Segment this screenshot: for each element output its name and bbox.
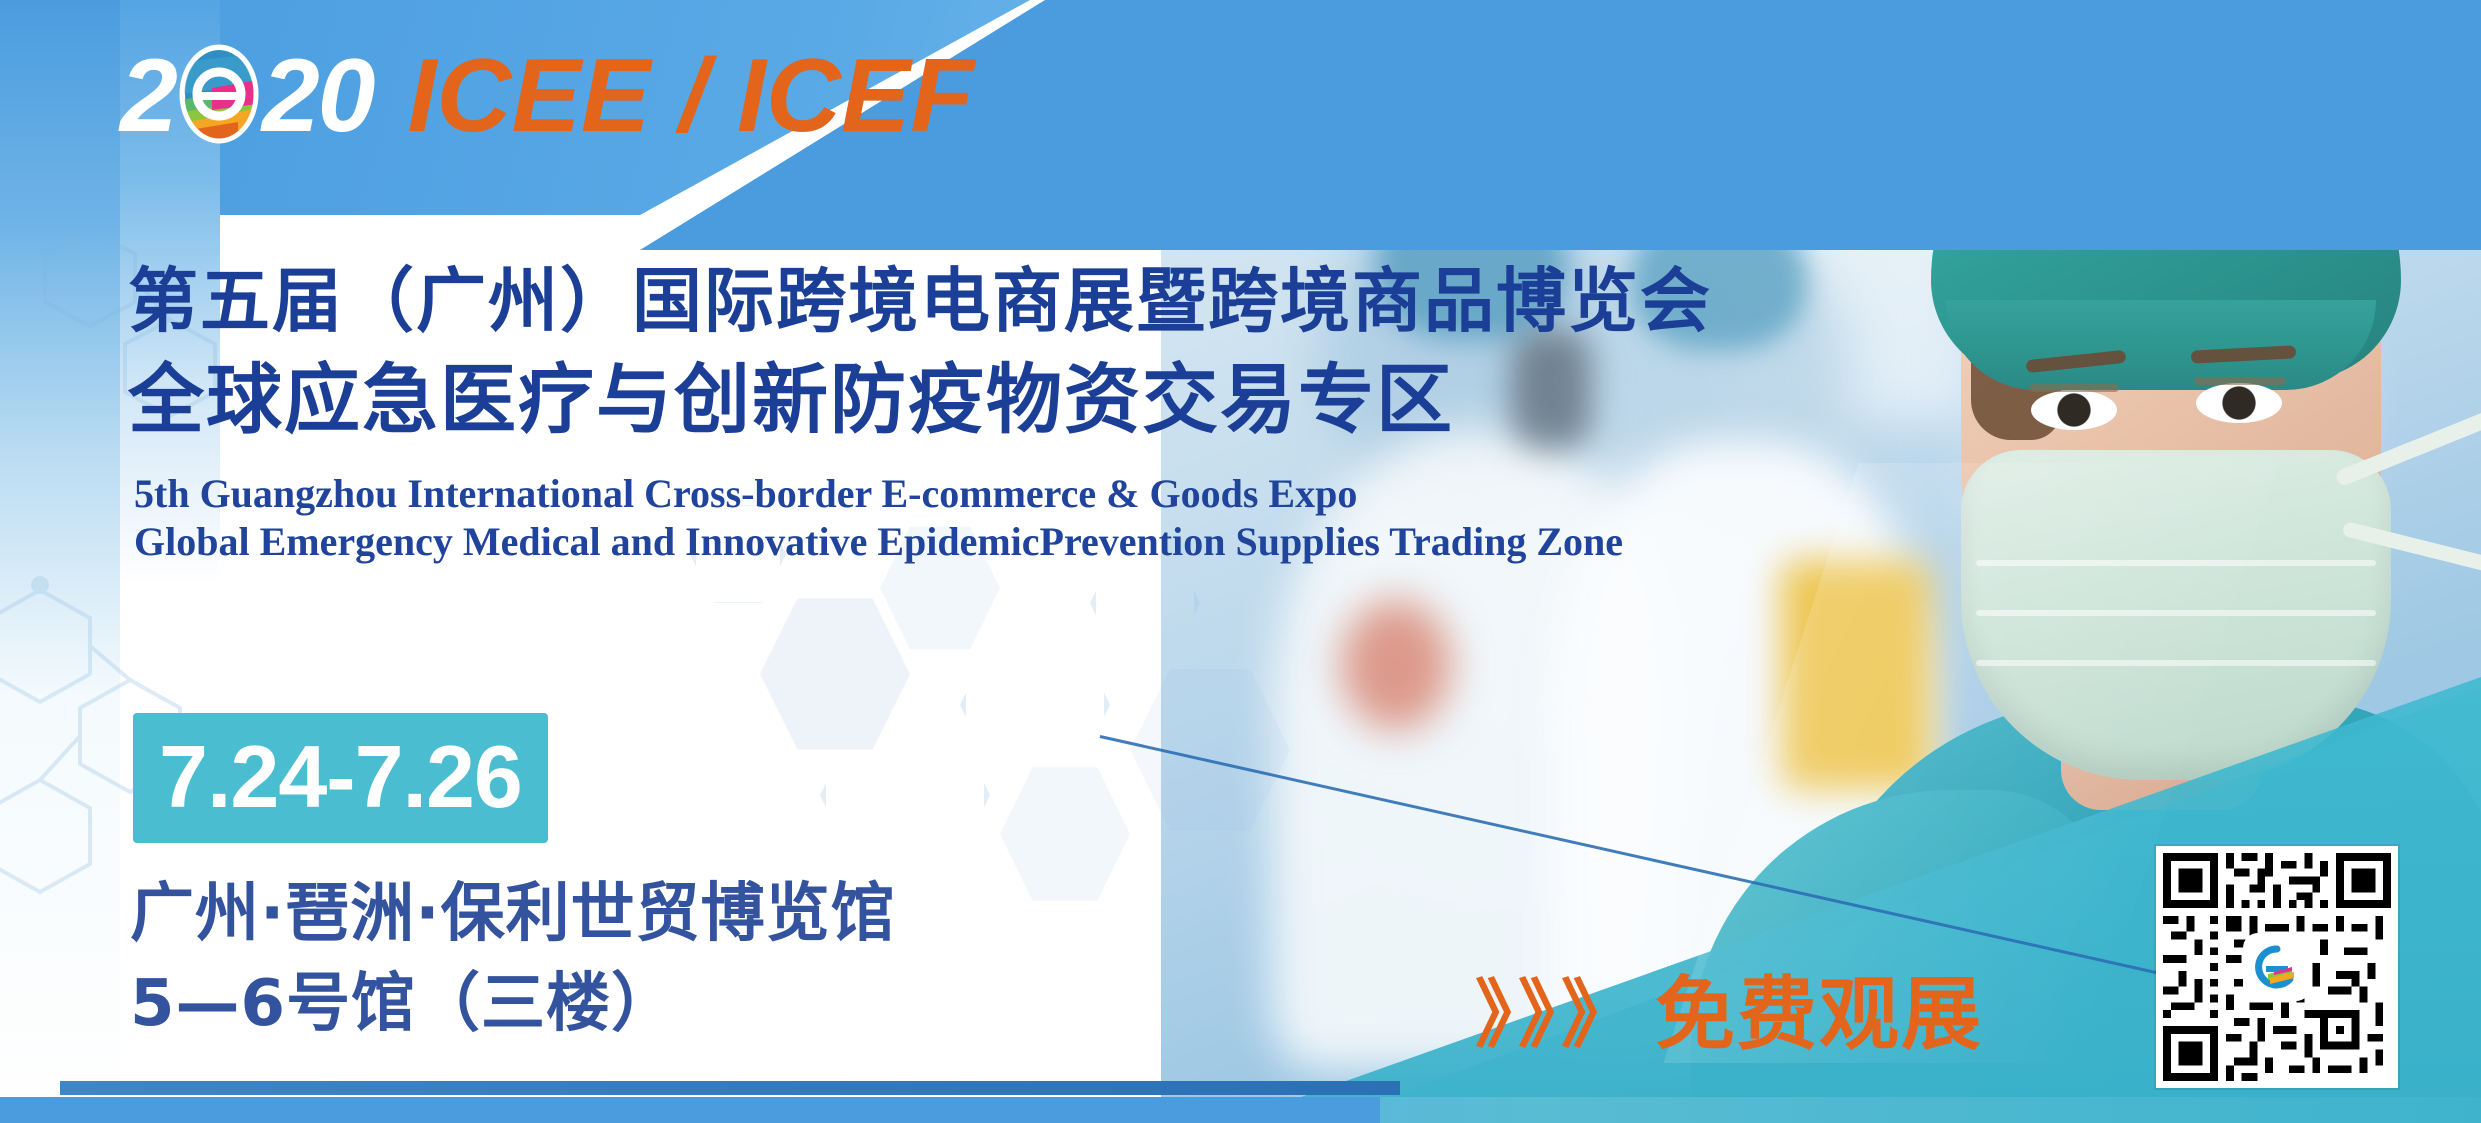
venue-location: 广州·琶洲·保利世贸博览馆 — [130, 862, 896, 954]
promo-banner: 2 20 — [0, 0, 2481, 1123]
qr-canvas — [2163, 853, 2391, 1081]
chevron-right-icon: 》》》 — [1475, 978, 1641, 1052]
free-admission-callout: 》》》 免费观展 — [1475, 975, 1983, 1055]
e-globe-emblem — [178, 44, 260, 148]
event-date-badge: 7.24-7.26 — [133, 713, 548, 843]
nurse-eyelid-right — [2194, 377, 2286, 385]
logo-lockup: 2 20 — [120, 36, 974, 156]
nurse-eyelid-left — [2029, 384, 2119, 392]
bottom-accent-bar — [60, 1081, 1400, 1095]
wechat-qr-code[interactable] — [2156, 846, 2398, 1088]
subtitle-english-secondary: Global Emergency Medical and Innovative … — [134, 518, 1623, 565]
blurred-red-object — [1341, 600, 1451, 730]
blurred-equipment — [1511, 330, 1591, 450]
year-suffix: 20 — [262, 44, 374, 148]
headline-chinese-secondary: 全球应急医疗与创新防疫物资交易专区 — [128, 338, 1454, 448]
subtitle-english-primary: 5th Guangzhou International Cross-border… — [134, 470, 1357, 517]
bottom-left-strip — [0, 1097, 1380, 1123]
headline-chinese-primary: 第五届（广州）国际跨境电商展暨跨境商品博览会 — [128, 245, 1712, 346]
year-prefix: 2 — [120, 44, 176, 148]
nurse-eye-right — [2196, 383, 2282, 423]
nurse-eye-left — [2031, 390, 2117, 430]
nurse-cap-edge — [1946, 300, 2376, 390]
venue-hall: 5—6号馆（三楼） — [130, 952, 676, 1044]
free-admission-label: 免费观展 — [1655, 975, 1983, 1055]
qr-center-e-logo — [2246, 936, 2308, 998]
brand-wordmark: ICEE / ICEF — [408, 44, 974, 148]
